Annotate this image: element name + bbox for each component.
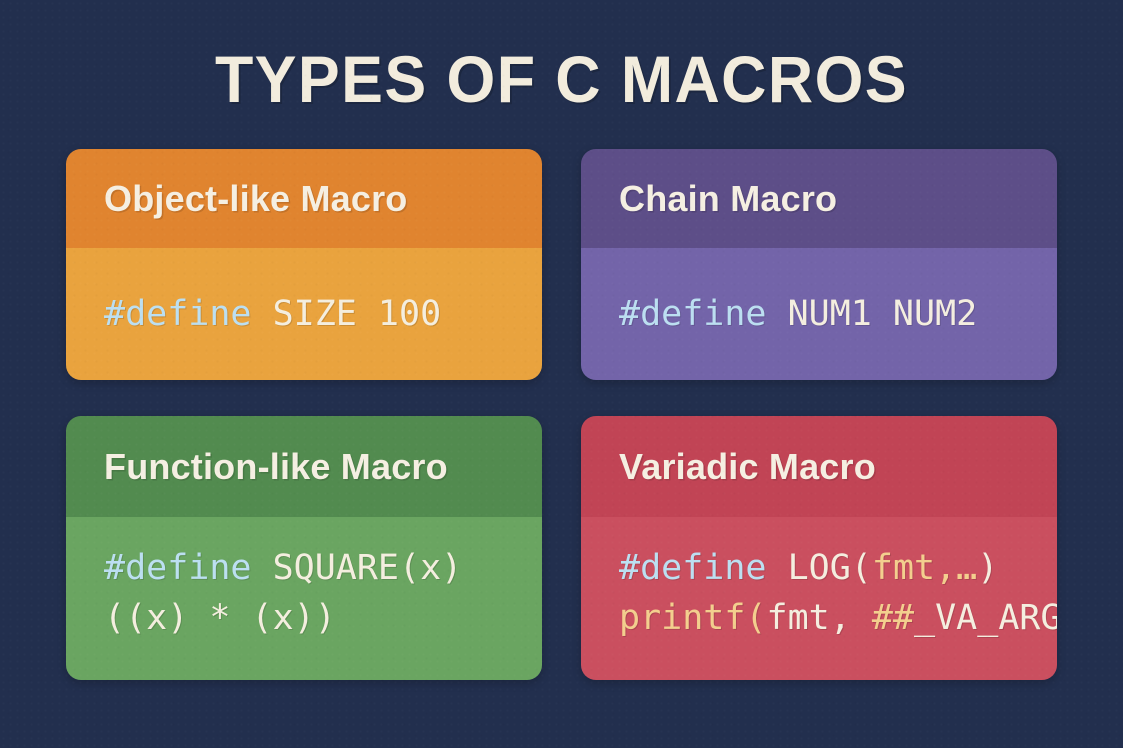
code-line: ((x) * (x)) (104, 593, 504, 643)
card-header-function-like: Function-like Macro (66, 416, 542, 517)
card-body-object-like: #define SIZE 100 (66, 248, 542, 380)
code-token-plain: ) (977, 548, 998, 588)
card-header-variadic: Variadic Macro (581, 416, 1057, 517)
code-token-keyword: #define (104, 294, 273, 334)
code-token-keyword: #define (619, 294, 788, 334)
infographic-page: TYPES OF C MACROS Object-like Macro #def… (0, 0, 1123, 748)
code-token-plain: SQUARE(x) (273, 548, 463, 588)
code-token-keyword: #define (104, 548, 273, 588)
code-line: #define SQUARE(x) (104, 543, 504, 593)
card-body-function-like: #define SQUARE(x) ((x) * (x)) (66, 517, 542, 680)
code-token-plain: SIZE 100 (273, 294, 442, 334)
card-chain: Chain Macro #define NUM1 NUM2 (581, 149, 1057, 380)
code-token-plain: _VA_ARGS_ (914, 598, 1057, 638)
code-line: #define NUM1 NUM2 (619, 289, 1019, 339)
card-title-chain: Chain Macro (619, 179, 837, 219)
code-token-argument: ## (872, 598, 914, 638)
code-token-argument: printf( (619, 598, 767, 638)
page-title: TYPES OF C MACROS (28, 43, 1095, 115)
code-token-plain: fmt, (767, 598, 872, 638)
code-token-plain: ((x) * (x)) (104, 598, 336, 638)
code-token-plain: NUM1 NUM2 (788, 294, 978, 334)
card-function-like: Function-like Macro #define SQUARE(x) ((… (66, 416, 542, 680)
code-line: #define LOG(fmt,…) (619, 543, 1019, 593)
code-token-argument: fmt,… (872, 548, 977, 588)
macro-card-grid: Object-like Macro #define SIZE 100 Chain… (66, 149, 1057, 680)
card-variadic: Variadic Macro #define LOG(fmt,…) printf… (581, 416, 1057, 680)
card-header-chain: Chain Macro (581, 149, 1057, 248)
code-line: #define SIZE 100 (104, 289, 504, 339)
card-object-like: Object-like Macro #define SIZE 100 (66, 149, 542, 380)
code-token-keyword: #define (619, 548, 788, 588)
card-title-object-like: Object-like Macro (104, 179, 408, 219)
card-header-object-like: Object-like Macro (66, 149, 542, 248)
code-line: printf(fmt, ##_VA_ARGS_ (619, 593, 1019, 643)
card-title-function-like: Function-like Macro (104, 447, 448, 487)
code-token-plain: LOG( (788, 548, 872, 588)
card-body-chain: #define NUM1 NUM2 (581, 248, 1057, 380)
card-title-variadic: Variadic Macro (619, 447, 876, 487)
card-body-variadic: #define LOG(fmt,…) printf(fmt, ##_VA_ARG… (581, 517, 1057, 680)
